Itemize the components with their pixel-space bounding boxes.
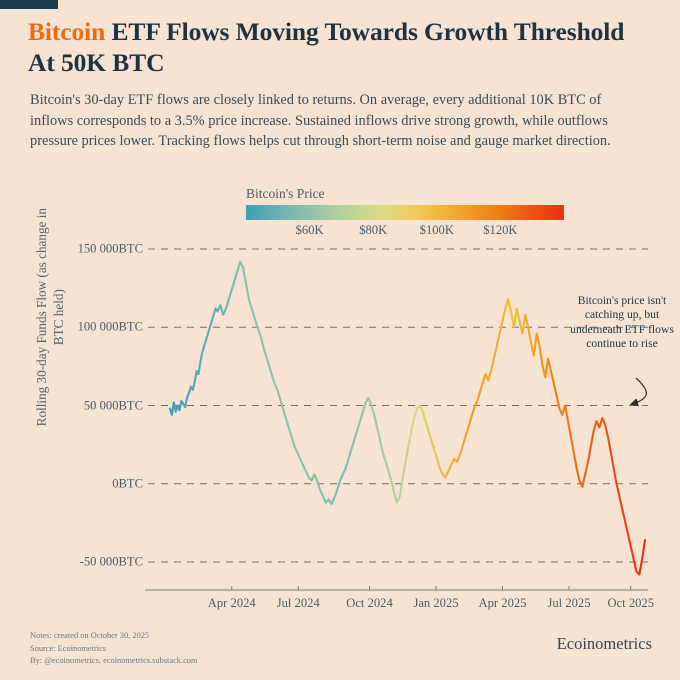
annotation-arrow bbox=[632, 378, 646, 404]
x-tick-label: Oct 2025 bbox=[607, 596, 654, 611]
x-tick-label: Jul 2025 bbox=[547, 596, 590, 611]
x-tick-label: Oct 2024 bbox=[346, 596, 393, 611]
annotation-text: Bitcoin's price isn't catching up, but u… bbox=[566, 294, 678, 352]
footer-source-line: Source: Ecoinometrics bbox=[30, 643, 198, 656]
x-tick-label: Jul 2024 bbox=[277, 596, 320, 611]
chart-area: Rolling 30-day Funds Flow (as change in … bbox=[0, 0, 680, 680]
x-tick-label: Apr 2025 bbox=[479, 596, 527, 611]
footer-by-line: By: @ecoinometrics, ecoinometrics.substa… bbox=[30, 655, 198, 668]
x-tick-marks bbox=[232, 586, 631, 590]
x-tick-label: Jan 2025 bbox=[413, 596, 458, 611]
brand-label: Ecoinometrics bbox=[557, 634, 652, 654]
footer-notes-line: Notes: created on October 30, 2025 bbox=[30, 630, 198, 643]
footer-notes: Notes: created on October 30, 2025 Sourc… bbox=[30, 630, 198, 668]
x-tick-label: Apr 2024 bbox=[208, 596, 256, 611]
